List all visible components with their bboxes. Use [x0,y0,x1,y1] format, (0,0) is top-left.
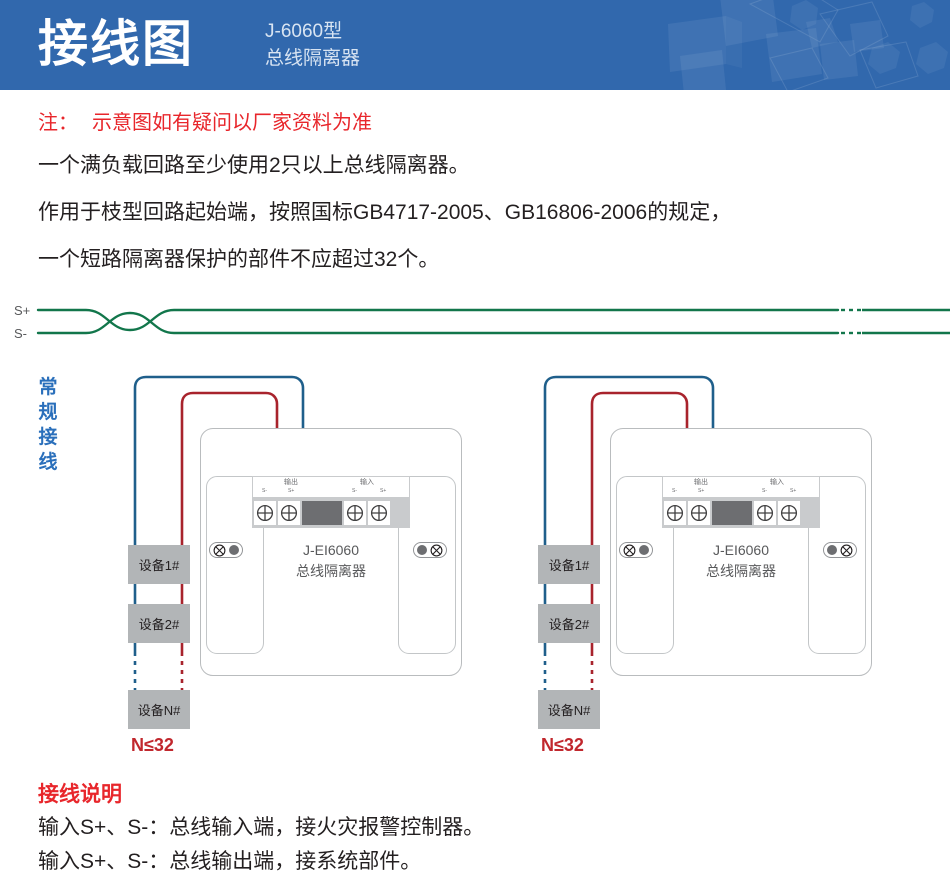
list-item[interactable]: 设备1# [128,545,190,584]
unit-2-input-label: 输入 [770,477,784,487]
unit-1-output-label: 输出 [284,477,298,487]
unit-2-output-label: 输出 [694,477,708,487]
unit-1-pin-in-2: S+ [380,488,386,494]
screw-terminal-icon[interactable] [344,501,366,525]
unit-2-model: J-EI6060 [610,540,872,561]
unit-1-input-label: 输入 [360,477,374,487]
unit-1-name: 总线隔离器 [200,561,462,582]
unit-2-pin-out-1: S- [672,488,677,494]
screw-terminal-icon[interactable] [778,501,800,525]
list-item[interactable]: 设备2# [538,604,600,643]
wiring-instructions-line-1: 输入S+、S-：总线输入端，接火灾报警控制器。 [38,811,484,841]
unit-1-model: J-EI6060 [200,540,462,561]
unit-1-terminal-label-strip [252,476,410,498]
list-item[interactable]: 设备1# [538,545,600,584]
unit-2-pin-out-2: S+ [698,488,704,494]
screw-terminal-icon[interactable] [278,501,300,525]
isolator-unit-1[interactable]: 输出 输入 S- S+ S- S+ J-EI6060 总线隔离器 [200,428,462,676]
unit-2-pin-in-2: S+ [790,488,796,494]
screw-terminal-icon[interactable] [688,501,710,525]
isolator-unit-2[interactable]: 输出 输入 S- S+ S- S+ J-EI6060 总线隔离器 [610,428,872,676]
unit-1-pin-in-1: S- [352,488,357,494]
list-item[interactable]: 设备N# [538,690,600,729]
screw-terminal-icon[interactable] [664,501,686,525]
unit-2-pin-in-1: S- [762,488,767,494]
screw-terminal-icon[interactable] [368,501,390,525]
device-limit-1: N≤32 [131,735,174,756]
unit-1-terminal-block[interactable] [252,498,410,528]
device-limit-2: N≤32 [541,735,584,756]
unit-2-indicator-window [712,501,752,525]
unit-2-terminal-label-strip [662,476,820,498]
unit-2-terminal-block[interactable] [662,498,820,528]
unit-1-pin-out-1: S- [262,488,267,494]
screw-terminal-icon[interactable] [754,501,776,525]
list-item[interactable]: 设备2# [128,604,190,643]
list-item[interactable]: 设备N# [128,690,190,729]
wiring-instructions-title: 接线说明 [38,778,122,808]
wiring-instructions-line-2: 输入S+、S-：总线输出端，接系统部件。 [38,845,421,875]
unit-1-pin-out-2: S+ [288,488,294,494]
unit-1-indicator-window [302,501,342,525]
unit-2-name: 总线隔离器 [610,561,872,582]
screw-terminal-icon[interactable] [254,501,276,525]
